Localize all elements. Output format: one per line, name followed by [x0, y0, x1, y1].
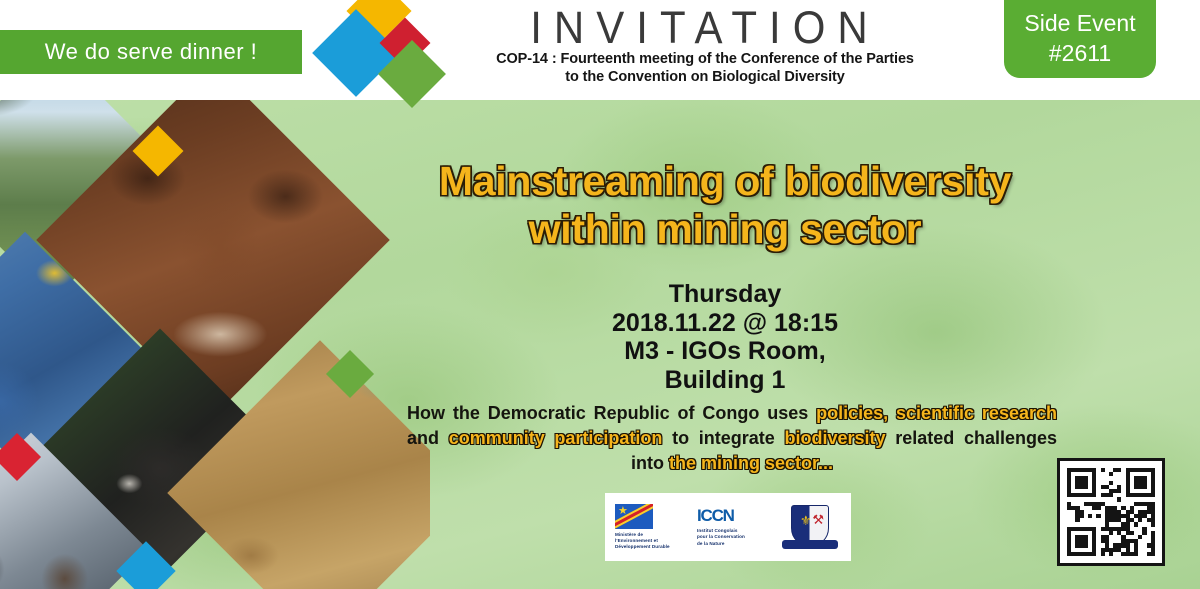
description-highlight-9: the mining sector...	[669, 453, 833, 473]
drc-ministry-logo: ★ Ministère del'Environnement etDévelopp…	[615, 504, 689, 551]
event-title-line-1: Mainstreaming of biodiversity	[395, 157, 1055, 205]
side-event-label: Side Event	[1024, 8, 1135, 38]
invitation-word: INVITATION	[440, 0, 970, 54]
dinner-banner: We do serve dinner !	[0, 30, 302, 74]
event-weekday: Thursday	[395, 280, 1055, 309]
emblem-ribbon	[782, 540, 838, 549]
description-highlight-3: scientific research	[896, 403, 1057, 423]
invitation-poster: Mainstreaming of biodiversity within min…	[0, 0, 1200, 589]
qr-code[interactable]	[1057, 458, 1165, 566]
header-band: We do serve dinner ! INVITATION COP-14 :…	[0, 0, 1200, 100]
event-datetime: 2018.11.22 @ 18:15	[395, 309, 1055, 338]
cbd-diamond-logo	[323, 0, 443, 100]
description-text-0: How the Democratic Republic of Congo use…	[407, 403, 816, 423]
description-highlight-7: biodiversity	[785, 428, 886, 448]
invitation-heading: INVITATION COP-14 : Fourteenth meeting o…	[440, 0, 970, 100]
iccn-mark: ICCN	[697, 507, 734, 525]
description-highlight-1: policies,	[816, 403, 888, 423]
hammers-icon: ⚒	[812, 513, 824, 526]
mining-emblem-logo: ⚜ ⚒	[779, 505, 841, 549]
drc-ministry-caption: Ministère del'Environnement etDéveloppem…	[615, 532, 670, 551]
event-title-line-2: within mining sector	[395, 205, 1055, 253]
event-title: Mainstreaming of biodiversity within min…	[395, 157, 1055, 253]
torch-icon: ⚜	[800, 514, 812, 527]
partner-logos: ★ Ministère del'Environnement etDévelopp…	[605, 493, 851, 561]
description-highlight-5: community participation	[449, 428, 663, 448]
iccn-caption: Institut Congolaispour la Conservationde…	[697, 528, 745, 547]
iccn-logo: ICCN Institut Congolaispour la Conservat…	[697, 507, 771, 547]
side-event-number: #2611	[1049, 38, 1111, 68]
description-text-6: to integrate	[662, 428, 784, 448]
event-room: M3 - IGOs Room,	[395, 337, 1055, 366]
event-description: How the Democratic Republic of Congo use…	[407, 401, 1057, 476]
drc-flag-icon: ★	[615, 504, 653, 529]
side-event-badge: Side Event #2611	[1004, 0, 1156, 78]
description-text-4: and	[407, 428, 449, 448]
qr-code-grid	[1067, 468, 1155, 556]
event-schedule: Thursday 2018.11.22 @ 18:15 M3 - IGOs Ro…	[395, 280, 1055, 394]
photo-collage	[0, 95, 430, 589]
event-building: Building 1	[395, 366, 1055, 395]
cop-subtitle-line-2: to the Convention on Biological Diversit…	[440, 68, 970, 87]
description-text-2	[888, 403, 896, 423]
dinner-banner-label: We do serve dinner !	[45, 39, 258, 65]
